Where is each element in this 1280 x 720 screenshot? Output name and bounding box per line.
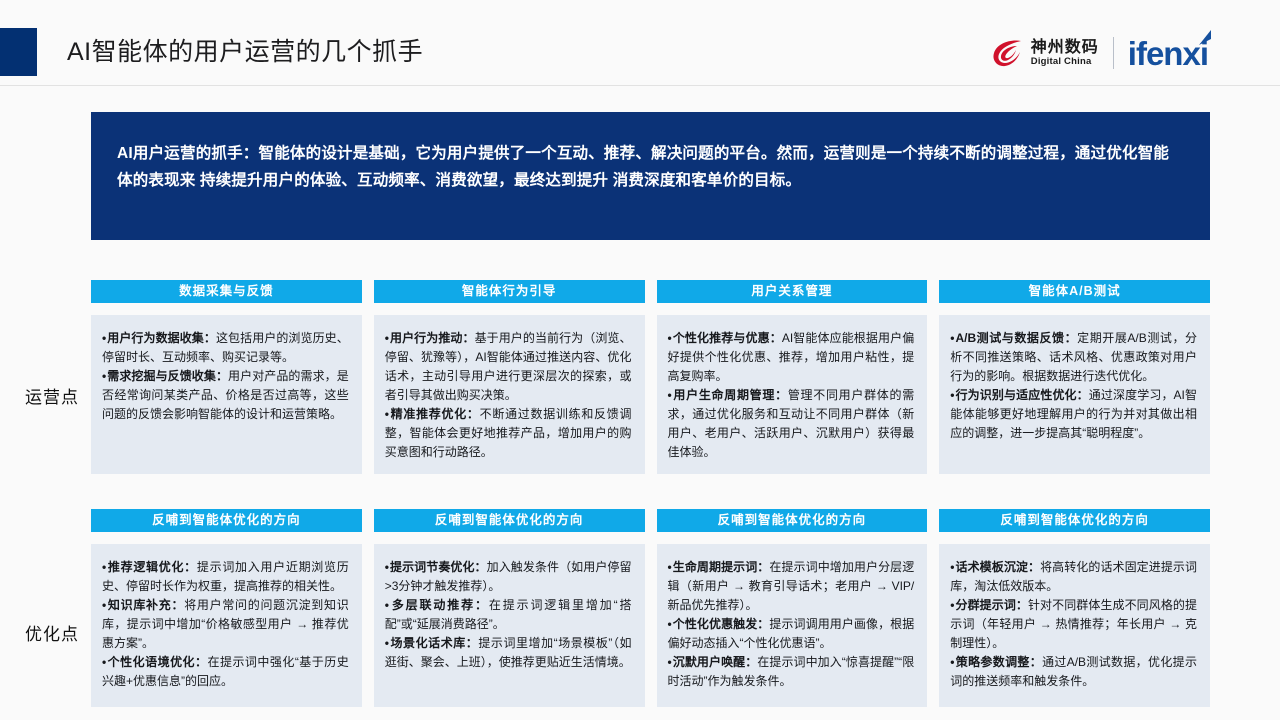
row-label-operations: 运营点 xyxy=(14,383,90,408)
column-header[interactable]: 反哺到智能体优化的方向 xyxy=(91,509,362,532)
operations-grid: 数据采集与反馈 用户行为数据收集：这包括用户的浏览历史、停留时长、互动频率、购买… xyxy=(91,280,1210,474)
list-item: 行为识别与适应性优化：通过深度学习，AI智能体能够更好地理解用户的行为并对其做出… xyxy=(950,386,1197,443)
bullet-term: 场景化话术库： xyxy=(390,636,478,650)
list-item: 个性化优惠触发：提示词调用用户画像，根据偏好动态插入“个性化优惠语”。 xyxy=(668,615,915,653)
bullet-list: 推荐逻辑优化：提示词加入用户近期浏览历史、停留时长作为权重，提高推荐的相关性。 … xyxy=(102,558,349,691)
column-ab-testing: 智能体A/B测试 A/B测试与数据反馈：定期开展A/B测试，分析不同推送策略、话… xyxy=(939,280,1210,474)
bullet-list: 生命周期提示词：在提示词中增加用户分层逻辑（新用户 → 教育引导话术；老用户 →… xyxy=(668,558,915,691)
column-body: A/B测试与数据反馈：定期开展A/B测试，分析不同推送策略、话术风格、优惠政策对… xyxy=(939,315,1210,474)
logo-area: 神州数码 Digital China ifenxi xyxy=(991,32,1210,74)
list-item: 知识库补充：将用户常问的问题沉淀到知识库，提示词中增加“价格敏感型用户 → 推荐… xyxy=(102,596,349,653)
bullet-term: 分群提示词： xyxy=(955,598,1028,612)
list-item: 推荐逻辑优化：提示词加入用户近期浏览历史、停留时长作为权重，提高推荐的相关性。 xyxy=(102,558,349,596)
column-header[interactable]: 用户关系管理 xyxy=(657,280,928,303)
list-item: 用户生命周期管理：管理不同用户群体的需求，通过优化服务和互动让不同用户群体（新用… xyxy=(668,386,915,462)
list-item: A/B测试与数据反馈：定期开展A/B测试，分析不同推送策略、话术风格、优惠政策对… xyxy=(950,329,1197,386)
ifenxi-flag-icon xyxy=(1198,30,1213,46)
column-feedback-direction-4: 反哺到智能体优化的方向 话术模板沉淀：将高转化的话术固定进提示词库，淘汰低效版本… xyxy=(939,509,1210,707)
column-feedback-direction-1: 反哺到智能体优化的方向 推荐逻辑优化：提示词加入用户近期浏览历史、停留时长作为权… xyxy=(91,509,362,707)
bullet-term: 需求挖掘与反馈收集： xyxy=(107,369,228,383)
intro-text: AI用户运营的抓手：智能体的设计是基础，它为用户提供了一个互动、推荐、解决问题的… xyxy=(117,140,1184,194)
column-behavior-guidance: 智能体行为引导 用户行为推动：基于用户的当前行为（浏览、停留、犹豫等），AI智能… xyxy=(374,280,645,474)
bullet-term: 用户行为数据收集： xyxy=(107,331,216,345)
bullet-term: 提示词节奏优化： xyxy=(390,560,487,574)
column-user-relationship: 用户关系管理 个性化推荐与优惠：AI智能体应能根据用户偏好提供个性化优惠、推荐，… xyxy=(657,280,928,474)
bullet-term: A/B测试与数据反馈： xyxy=(955,331,1077,345)
list-item: 个性化语境优化：在提示词中强化“基于历史兴趣+优惠信息”的回应。 xyxy=(102,653,349,691)
ifenxi-wordmark: ifenxi xyxy=(1128,35,1208,72)
list-item: 个性化推荐与优惠：AI智能体应能根据用户偏好提供个性化优惠、推荐，增加用户粘性，… xyxy=(668,329,915,386)
intro-banner: AI用户运营的抓手：智能体的设计是基础，它为用户提供了一个互动、推荐、解决问题的… xyxy=(91,112,1210,240)
column-body: 提示词节奏优化：加入触发条件（如用户停留>3分钟才触发推荐）。 多层联动推荐：在… xyxy=(374,544,645,707)
list-item: 生命周期提示词：在提示词中增加用户分层逻辑（新用户 → 教育引导话术；老用户 →… xyxy=(668,558,915,615)
bullet-term: 个性化优惠触发： xyxy=(673,617,770,631)
intro-lead: AI用户运营的抓手： xyxy=(117,145,259,162)
bullet-term: 沉默用户唤醒： xyxy=(673,655,758,669)
column-body: 生命周期提示词：在提示词中增加用户分层逻辑（新用户 → 教育引导话术；老用户 →… xyxy=(657,544,928,707)
list-item: 话术模板沉淀：将高转化的话术固定进提示词库，淘汰低效版本。 xyxy=(950,558,1197,596)
bullet-term: 知识库补充： xyxy=(107,598,184,612)
bullet-term: 个性化推荐与优惠： xyxy=(673,331,782,345)
column-header[interactable]: 数据采集与反馈 xyxy=(91,280,362,303)
digital-china-logo: 神州数码 Digital China xyxy=(991,37,1099,69)
column-body: 个性化推荐与优惠：AI智能体应能根据用户偏好提供个性化优惠、推荐，增加用户粘性，… xyxy=(657,315,928,474)
column-data-collection: 数据采集与反馈 用户行为数据收集：这包括用户的浏览历史、停留时长、互动频率、购买… xyxy=(91,280,362,474)
ifenxi-logo: ifenxi xyxy=(1128,37,1210,70)
list-item: 需求挖掘与反馈收集：用户对产品的需求，是否经常询问某类产品、价格是否过高等，这些… xyxy=(102,367,349,424)
digital-china-wordmark: 神州数码 Digital China xyxy=(1031,40,1099,67)
intro-body: 智能体的设计是基础，它为用户提供了一个互动、推荐、解决问题的平台。然而，运营则是… xyxy=(117,145,1169,189)
bullet-term: 个性化语境优化： xyxy=(107,655,207,669)
bullet-term: 推荐逻辑优化： xyxy=(107,560,197,574)
column-body: 推荐逻辑优化：提示词加入用户近期浏览历史、停留时长作为权重，提高推荐的相关性。 … xyxy=(91,544,362,707)
bullet-list: 个性化推荐与优惠：AI智能体应能根据用户偏好提供个性化优惠、推荐，增加用户粘性，… xyxy=(668,329,915,462)
bullet-term: 用户行为推动： xyxy=(390,331,475,345)
list-item: 策略参数调整：通过A/B测试数据，优化提示词的推送频率和触发条件。 xyxy=(950,653,1197,691)
bullet-term: 话术模板沉淀： xyxy=(955,560,1040,574)
column-body: 用户行为推动：基于用户的当前行为（浏览、停留、犹豫等），AI智能体通过推送内容、… xyxy=(374,315,645,474)
bullet-term: 多层联动推荐： xyxy=(390,598,489,612)
bullet-term: 用户生命周期管理： xyxy=(673,388,788,402)
list-item: 用户行为数据收集：这包括用户的浏览历史、停留时长、互动频率、购买记录等。 xyxy=(102,329,349,367)
logo-divider xyxy=(1113,37,1114,69)
bullet-list: A/B测试与数据反馈：定期开展A/B测试，分析不同推送策略、话术风格、优惠政策对… xyxy=(950,329,1197,443)
bullet-list: 用户行为推动：基于用户的当前行为（浏览、停留、犹豫等），AI智能体通过推送内容、… xyxy=(385,329,632,462)
header-accent-bar xyxy=(0,28,37,76)
bullet-term: 行为识别与适应性优化： xyxy=(955,388,1088,402)
bullet-list: 话术模板沉淀：将高转化的话术固定进提示词库，淘汰低效版本。 分群提示词：针对不同… xyxy=(950,558,1197,691)
list-item: 分群提示词：针对不同群体生成不同风格的提示词（年轻用户 → 热情推荐；年长用户 … xyxy=(950,596,1197,653)
column-header[interactable]: 智能体行为引导 xyxy=(374,280,645,303)
list-item: 场景化话术库：提示词里增加“场景模板”（如逛街、聚会、上班），使推荐更贴近生活情… xyxy=(385,634,632,672)
column-body: 用户行为数据收集：这包括用户的浏览历史、停留时长、互动频率、购买记录等。 需求挖… xyxy=(91,315,362,474)
bullet-term: 精准推荐优化： xyxy=(390,407,480,421)
list-item: 用户行为推动：基于用户的当前行为（浏览、停留、犹豫等），AI智能体通过推送内容、… xyxy=(385,329,632,405)
row-label-optimization: 优化点 xyxy=(14,620,90,645)
bullet-term: 策略参数调整： xyxy=(955,655,1042,669)
column-header[interactable]: 反哺到智能体优化的方向 xyxy=(374,509,645,532)
column-header[interactable]: 反哺到智能体优化的方向 xyxy=(657,509,928,532)
bullet-list: 用户行为数据收集：这包括用户的浏览历史、停留时长、互动频率、购买记录等。 需求挖… xyxy=(102,329,349,424)
column-feedback-direction-2: 反哺到智能体优化的方向 提示词节奏优化：加入触发条件（如用户停留>3分钟才触发推… xyxy=(374,509,645,707)
digital-china-en-text: Digital China xyxy=(1031,57,1099,67)
digital-china-cn-text: 神州数码 xyxy=(1031,40,1099,56)
page-header: AI智能体的用户运营的几个抓手 神州数码 Digital China ifenx… xyxy=(0,0,1280,86)
bullet-term: 生命周期提示词： xyxy=(673,560,770,574)
list-item: 精准推荐优化：不断通过数据训练和反馈调整，智能体会更好地推荐产品，增加用户的购买… xyxy=(385,405,632,462)
list-item: 提示词节奏优化：加入触发条件（如用户停留>3分钟才触发推荐）。 xyxy=(385,558,632,596)
list-item: 多层联动推荐：在提示词逻辑里增加“搭配”或“延展消费路径”。 xyxy=(385,596,632,634)
column-header[interactable]: 智能体A/B测试 xyxy=(939,280,1210,303)
column-feedback-direction-3: 反哺到智能体优化的方向 生命周期提示词：在提示词中增加用户分层逻辑（新用户 → … xyxy=(657,509,928,707)
column-header[interactable]: 反哺到智能体优化的方向 xyxy=(939,509,1210,532)
digital-china-swirl-icon xyxy=(991,37,1025,69)
column-body: 话术模板沉淀：将高转化的话术固定进提示词库，淘汰低效版本。 分群提示词：针对不同… xyxy=(939,544,1210,707)
page-title: AI智能体的用户运营的几个抓手 xyxy=(67,36,423,68)
optimization-grid: 反哺到智能体优化的方向 推荐逻辑优化：提示词加入用户近期浏览历史、停留时长作为权… xyxy=(91,509,1210,707)
list-item: 沉默用户唤醒：在提示词中加入“惊喜提醒”“限时活动”作为触发条件。 xyxy=(668,653,915,691)
bullet-list: 提示词节奏优化：加入触发条件（如用户停留>3分钟才触发推荐）。 多层联动推荐：在… xyxy=(385,558,632,672)
